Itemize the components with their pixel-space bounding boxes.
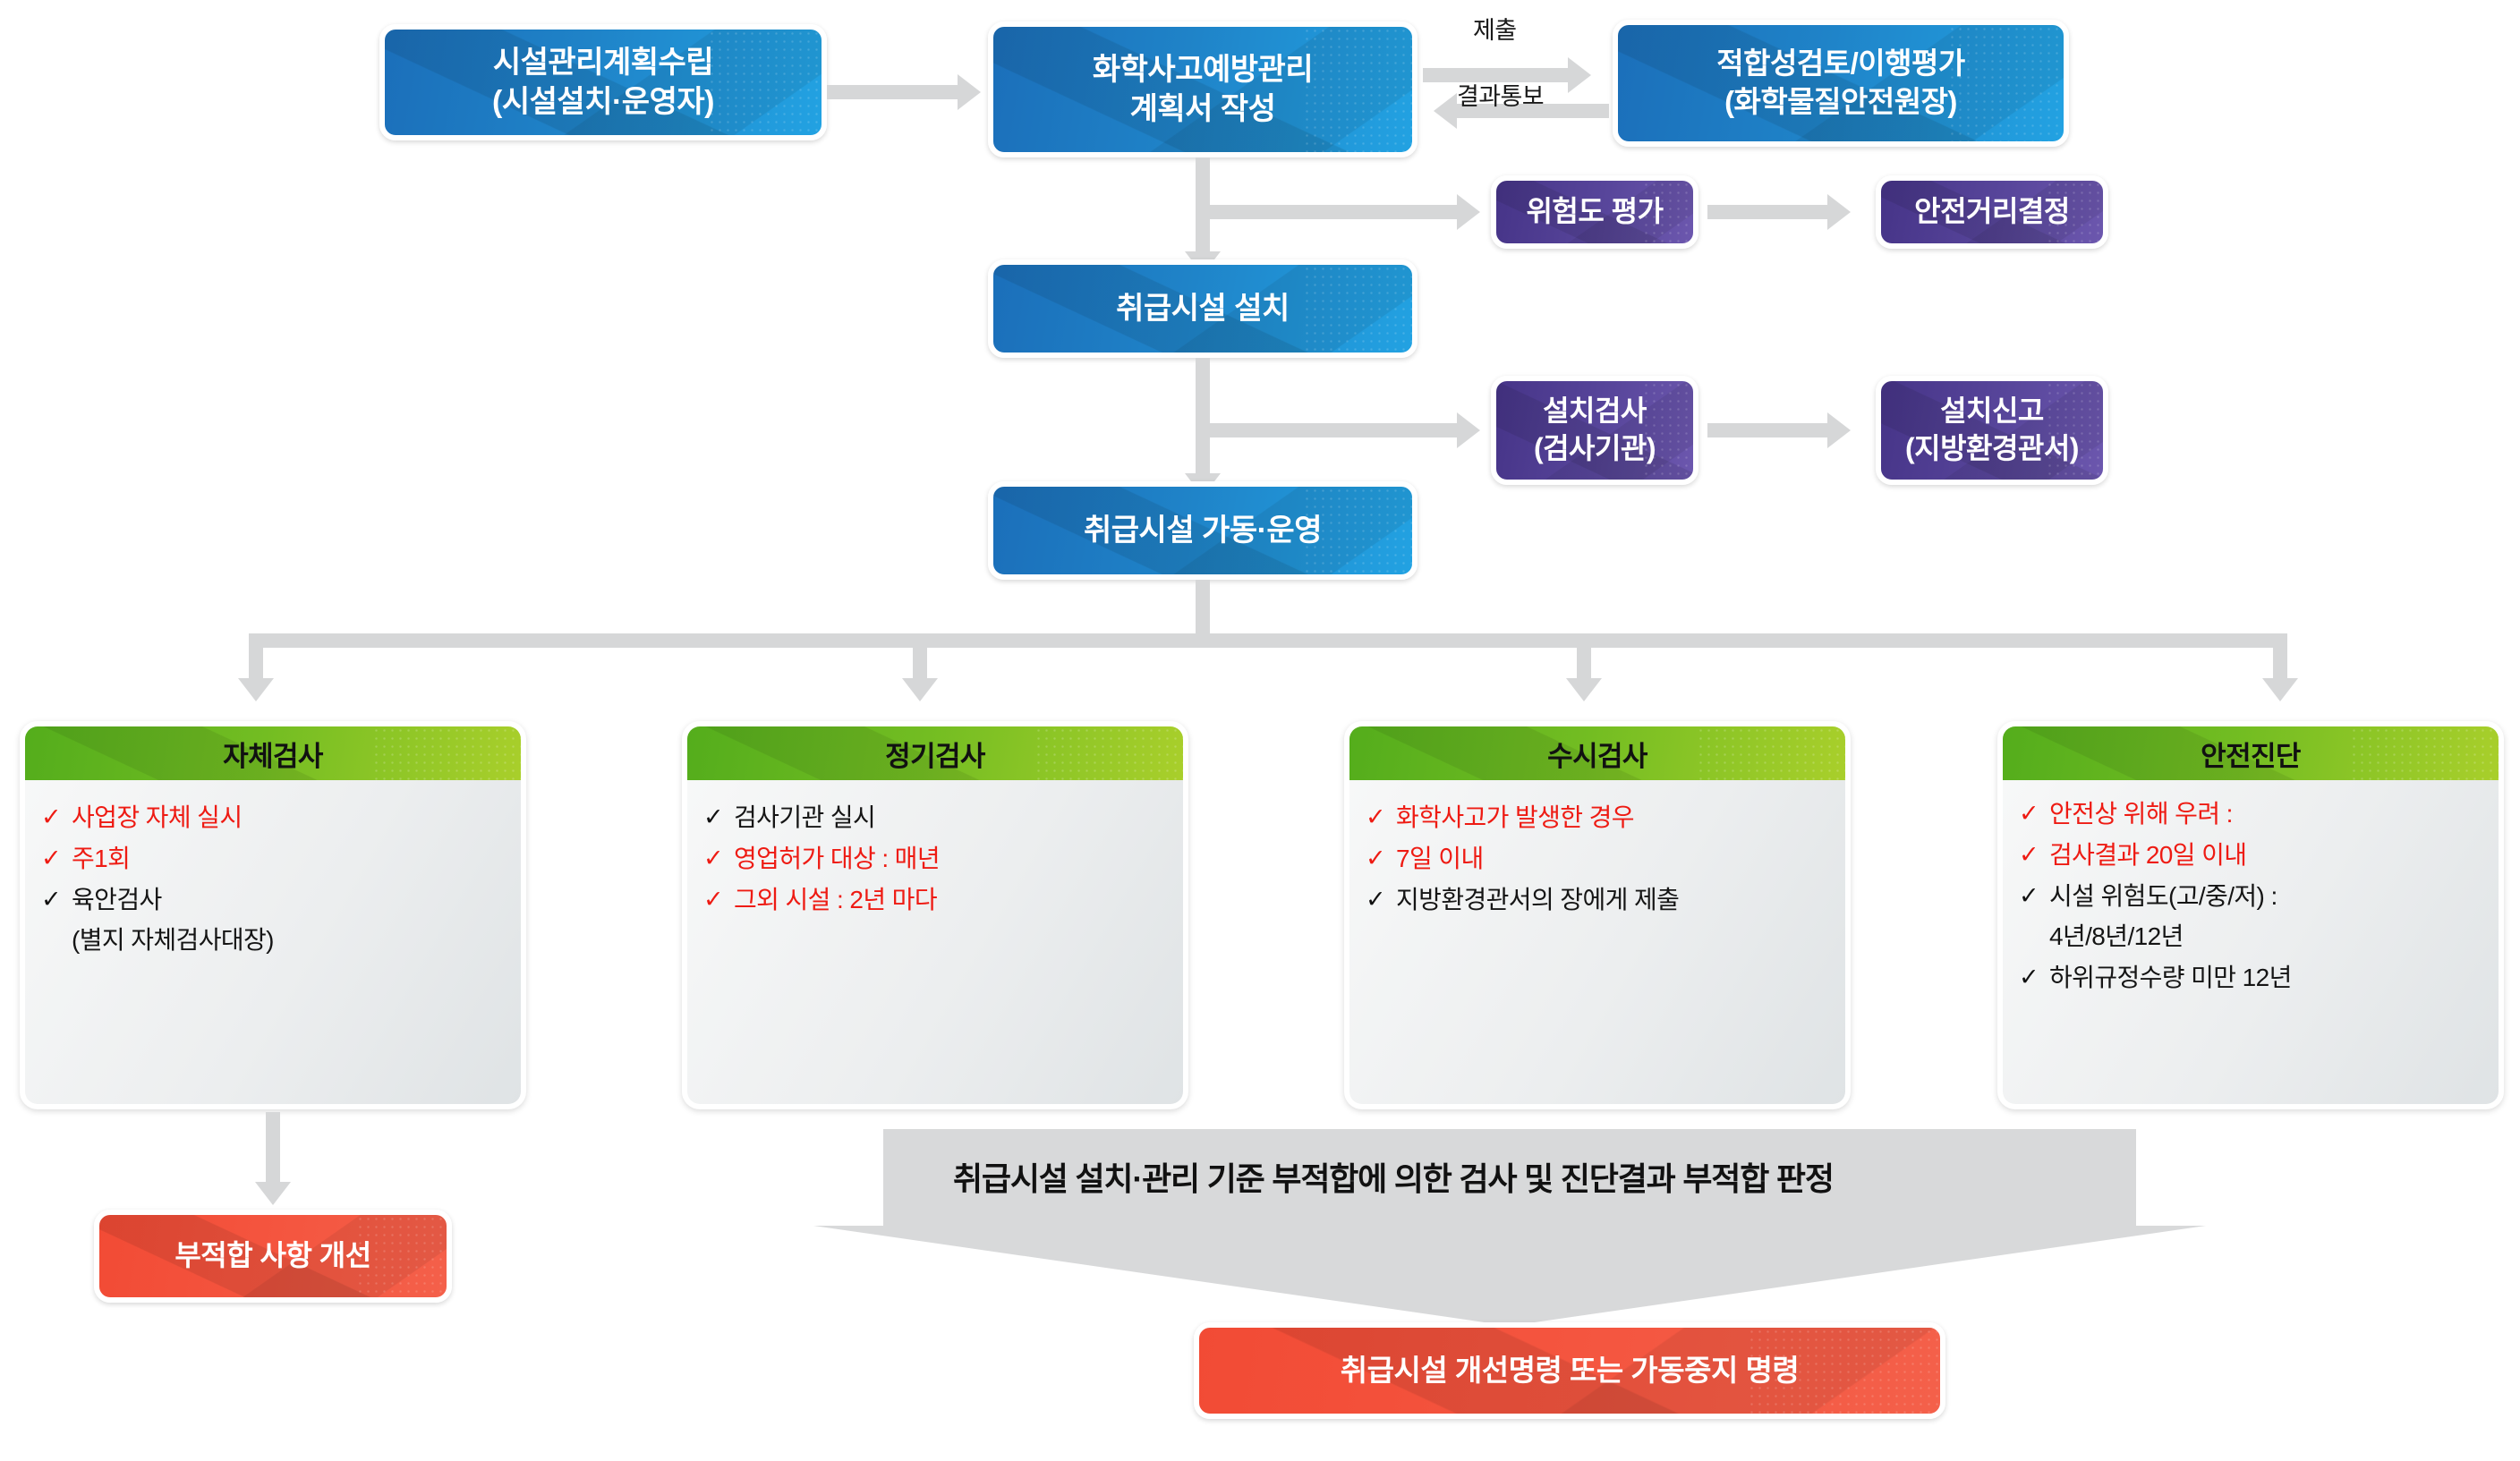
- node-facility-plan[interactable]: 시설관리계획수립 (시설설치·운영자): [379, 24, 827, 140]
- connector-install-down: [1196, 358, 1210, 426]
- list-item-text: 시설 위험도(고/중/저) :: [2049, 879, 2482, 914]
- node-improvement-order[interactable]: 취급시설 개선명령 또는 가동중지 명령: [1194, 1322, 1945, 1419]
- panel-regular-inspection[interactable]: 정기검사 ✓ 검사기관 실시 ✓ 영업허가 대상 : 매년 ✓ 그외 시설 : …: [682, 721, 1188, 1109]
- node-facility-operate-label: 취급시설 가동·운영: [1075, 511, 1331, 550]
- panel-occasional-inspection-title: 수시검사: [1547, 734, 1647, 774]
- check-icon-placeholder: ✓: [2019, 837, 2049, 871]
- list-item-text: 화학사고가 발생한 경우: [1396, 800, 1829, 836]
- list-item: ✓ 사업장 자체 실시: [41, 800, 505, 836]
- node-install-inspection[interactable]: 설치검사 (검사기관): [1491, 376, 1698, 485]
- panel-self-inspection-body: ✓ 사업장 자체 실시 ✓ 주1회 ✓ 육안검사 ✓ (별지 자체검사대장): [25, 780, 521, 1104]
- list-item: ✓ 7일 이내: [1366, 841, 1829, 877]
- panel-regular-inspection-title: 정기검사: [885, 734, 985, 774]
- list-item: ✓ 그외 시설 : 2년 마다: [703, 882, 1167, 918]
- list-item-text: 안전상 위해 우려 :: [2049, 796, 2482, 832]
- arrowhead-selfinspection-to-fix: [255, 1182, 291, 1205]
- connector-selfinspection-to-fix: [266, 1112, 280, 1187]
- list-item-text: 그외 시설 : 2년 마다: [734, 882, 1167, 918]
- list-item: ✓ (별지 자체검사대장): [41, 922, 505, 958]
- node-prevention-plan-label: 화학사고예방관리 계획서 작성: [1084, 50, 1322, 129]
- panel-regular-inspection-header: 정기검사: [687, 726, 1183, 780]
- panel-safety-diagnosis-title: 안전진단: [2201, 734, 2301, 774]
- connector-install-to-inspection: [1196, 423, 1460, 437]
- list-item: ✓ 육안검사: [41, 882, 505, 918]
- list-item-text: (별지 자체검사대장): [72, 922, 505, 958]
- connector-branch-4: [2273, 633, 2287, 684]
- connector-branch-3: [1577, 633, 1591, 684]
- node-install-inspection-label: 설치검사 (검사기관): [1525, 393, 1664, 467]
- list-item-text: 사업장 자체 실시: [72, 800, 505, 836]
- arrowhead-risk-to-distance: [1827, 194, 1851, 230]
- node-risk-assessment-label: 위험도 평가: [1517, 193, 1672, 231]
- connector-prevention-to-risk: [1196, 205, 1460, 219]
- list-item-text: 육안검사: [72, 882, 505, 918]
- edge-label-submit: 제출: [1473, 11, 1516, 46]
- node-safety-distance[interactable]: 안전거리결정: [1876, 175, 2108, 249]
- list-item: ✓ 영업허가 대상 : 매년: [703, 841, 1167, 877]
- check-icon: ✓: [41, 882, 72, 916]
- node-nonconformity-fix-label: 부적합 사항 개선: [166, 1237, 379, 1275]
- check-icon: ✓: [41, 841, 72, 875]
- node-facility-install[interactable]: 취급시설 설치: [988, 259, 1417, 358]
- arrowhead-branch-3: [1566, 678, 1602, 701]
- list-item: ✓ 하위규정수량 미만 12년: [2019, 960, 2482, 996]
- panel-safety-diagnosis-body: ✓ 안전상 위해 우려 : ✓ 검사결과 20일 이내 ✓ 시설 위험도(고/중…: [2003, 780, 2499, 1104]
- check-icon: ✓: [41, 800, 72, 834]
- list-item-text: 영업허가 대상 : 매년: [734, 841, 1167, 877]
- list-item: ✓ 지방환경관서의 장에게 제출: [1366, 882, 1829, 918]
- check-icon: ✓: [703, 800, 734, 834]
- arrowhead-install-to-inspection: [1457, 412, 1480, 448]
- connector-branch-1: [249, 633, 263, 684]
- connector-prevention-down: [1196, 157, 1210, 208]
- arrowhead-prevention-to-risk: [1457, 194, 1480, 230]
- list-item-text: 지방환경관서의 장에게 제출: [1396, 882, 1829, 918]
- arrowhead-inspection-to-report: [1827, 412, 1851, 448]
- list-item: ✓ 시설 위험도(고/중/저) :: [2019, 879, 2482, 914]
- connector-install-to-operate: [1196, 423, 1210, 479]
- panel-self-inspection-header: 자체검사: [25, 726, 521, 780]
- list-item-text: 주1회: [72, 841, 505, 877]
- check-icon: ✓: [2019, 960, 2049, 994]
- node-facility-operate[interactable]: 취급시설 가동·운영: [988, 481, 1417, 580]
- arrowhead-result-notice: [1434, 93, 1457, 129]
- list-item: ✓ 검사기관 실시: [703, 800, 1167, 836]
- check-icon-placeholder: ✓: [2019, 919, 2049, 953]
- list-item-text: 4년/8년/12년: [2049, 919, 2482, 955]
- list-item: ✓ 안전상 위해 우려 :: [2019, 796, 2482, 832]
- panel-occasional-inspection-body: ✓ 화학사고가 발생한 경우 ✓ 7일 이내 ✓ 지방환경관서의 장에게 제출: [1349, 780, 1845, 1104]
- panel-regular-inspection-body: ✓ 검사기관 실시 ✓ 영업허가 대상 : 매년 ✓ 그외 시설 : 2년 마다: [687, 780, 1183, 1104]
- arrowhead-branch-4: [2262, 678, 2298, 701]
- connector-operate-down: [1196, 580, 1210, 639]
- edge-label-result-notice: 결과통보: [1457, 77, 1544, 112]
- connector-risk-to-distance: [1707, 205, 1831, 219]
- list-item: ✓ 4년/8년/12년: [2019, 919, 2482, 955]
- node-conformity-review-label: 적합성검토/이행평가 (화학물질안전원장): [1707, 45, 1973, 122]
- list-item: ✓ 검사결과 20일 이내: [2019, 837, 2482, 873]
- arrowhead-branch-1: [238, 678, 274, 701]
- connector-plan-to-prevention: [827, 85, 961, 99]
- check-icon: ✓: [1366, 882, 1396, 916]
- arrowhead-submit: [1568, 57, 1591, 93]
- node-install-report[interactable]: 설치신고 (지방환경관서): [1876, 376, 2108, 485]
- node-safety-distance-label: 안전거리결정: [1905, 193, 2079, 231]
- list-item-text: 7일 이내: [1396, 841, 1829, 877]
- arrowhead-branch-2: [902, 678, 938, 701]
- list-item: ✓ 주1회: [41, 841, 505, 877]
- connector-inspection-to-report: [1707, 423, 1831, 437]
- banner-arrow-wings: [813, 1226, 2206, 1326]
- check-icon-placeholder: ✓: [41, 922, 72, 956]
- panel-occasional-inspection[interactable]: 수시검사 ✓ 화학사고가 발생한 경우 ✓ 7일 이내 ✓ 지방환경관서의 장에…: [1344, 721, 1851, 1109]
- check-icon: ✓: [2019, 879, 2049, 913]
- panel-occasional-inspection-header: 수시검사: [1349, 726, 1845, 780]
- list-item-text: 하위규정수량 미만 12년: [2049, 960, 2482, 996]
- node-prevention-plan[interactable]: 화학사고예방관리 계획서 작성: [988, 21, 1417, 157]
- check-icon: ✓: [703, 841, 734, 875]
- flowchart-canvas: 시설관리계획수립 (시설설치·운영자) 화학사고예방관리 계획서 작성 적합성검…: [0, 0, 2520, 1461]
- connector-branch-2: [913, 633, 927, 684]
- list-item: ✓ 화학사고가 발생한 경우: [1366, 800, 1829, 836]
- list-item-text: 검사기관 실시: [734, 800, 1167, 836]
- node-facility-plan-label: 시설관리계획수립 (시설설치·운영자): [483, 43, 723, 122]
- panel-safety-diagnosis-header: 안전진단: [2003, 726, 2499, 780]
- check-icon: ✓: [2019, 796, 2049, 830]
- connector-branch-bus: [249, 633, 2287, 648]
- connector-prevention-to-install: [1196, 205, 1210, 257]
- node-improvement-order-label: 취급시설 개선명령 또는 가동중지 명령: [1332, 1352, 1808, 1390]
- node-nonconformity-fix[interactable]: 부적합 사항 개선: [94, 1210, 452, 1303]
- arrowhead-plan-to-prevention: [958, 74, 981, 110]
- panel-self-inspection[interactable]: 자체검사 ✓ 사업장 자체 실시 ✓ 주1회 ✓ 육안검사 ✓ (별지 자체검사…: [20, 721, 526, 1109]
- check-icon: ✓: [703, 882, 734, 916]
- panel-safety-diagnosis[interactable]: 안전진단 ✓ 안전상 위해 우려 : ✓ 검사결과 20일 이내 ✓ 시설 위험…: [1997, 721, 2504, 1109]
- list-item-text: 검사결과 20일 이내: [2049, 837, 2482, 873]
- banner-text: 취급시설 설치·관리 기준 부적합에 의한 검사 및 진단결과 부적합 판정: [953, 1153, 1834, 1200]
- node-conformity-review[interactable]: 적합성검토/이행평가 (화학물질안전원장): [1613, 20, 2069, 147]
- check-icon: ✓: [1366, 800, 1396, 834]
- node-risk-assessment[interactable]: 위험도 평가: [1491, 175, 1698, 249]
- panel-self-inspection-title: 자체검사: [223, 734, 323, 774]
- node-install-report-label: 설치신고 (지방환경관서): [1896, 393, 2088, 467]
- node-facility-install-label: 취급시설 설치: [1107, 289, 1298, 328]
- check-icon-placeholder: ✓: [1366, 841, 1396, 875]
